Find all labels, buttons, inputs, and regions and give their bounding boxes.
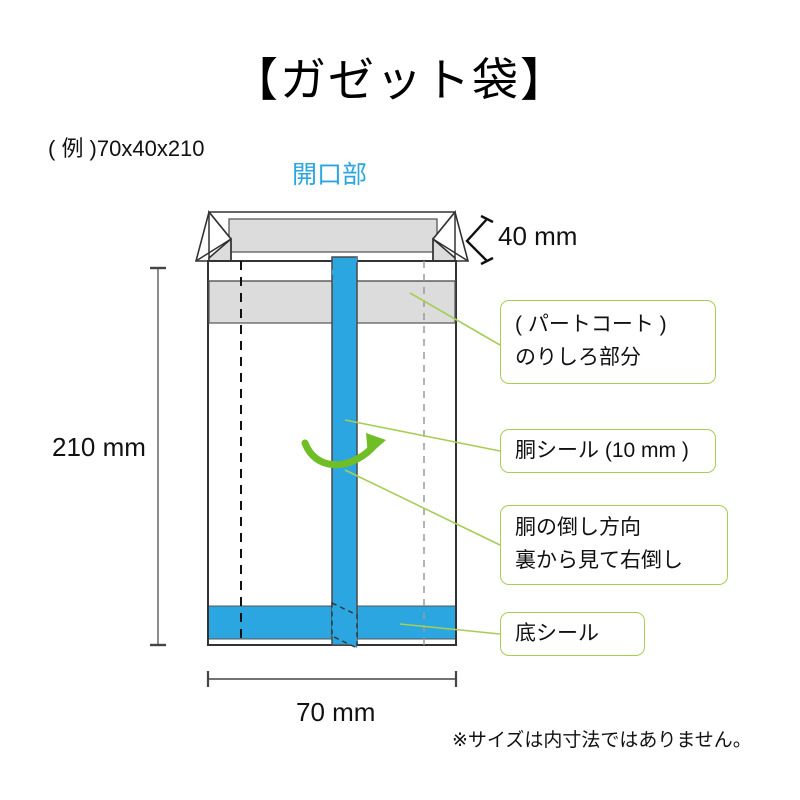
callout-part-coat-line1: ( パートコート ) [515, 309, 701, 342]
callout-body-seal: 胴シール (10 mm ) [500, 429, 716, 473]
page-title: 【ガゼット袋】 [0, 44, 800, 110]
diagram-canvas: 【ガゼット袋】 ( 例 )70x40x210 開口部 40 mm 210 mm … [0, 0, 800, 800]
height-dimension-label: 210 mm [52, 432, 146, 463]
top-flap-inner-panel [229, 219, 437, 252]
width-dimension-label: 70 mm [296, 697, 375, 728]
callout-part-coat-line2: のりしろ部分 [515, 342, 701, 375]
gusset-depth-bracket [467, 216, 493, 264]
callout-part-coat: ( パートコート ) のりしろ部分 [500, 300, 716, 384]
callout-bottom-seal: 底シール [500, 612, 645, 656]
opening-label: 開口部 [292, 155, 367, 191]
callout-body-seal-line1: 胴シール (10 mm ) [515, 435, 701, 468]
gusset-depth-label: 40 mm [498, 221, 577, 252]
callout-fold-direction-line2: 裏から見て右倒し [515, 545, 713, 578]
body-seal-strip [332, 257, 357, 645]
callout-fold-direction-line1: 胴の倒し方向 [515, 512, 713, 545]
top-gusset-group [196, 212, 468, 261]
gusset-bag-drawing [0, 0, 800, 800]
footnote-text: ※サイズは内寸法ではありません。 [452, 725, 752, 752]
callout-bottom-seal-line1: 底シール [515, 618, 630, 651]
example-size-label: ( 例 )70x40x210 [48, 131, 205, 163]
width-dimension [208, 671, 456, 687]
callout-fold-direction: 胴の倒し方向 裏から見て右倒し [500, 505, 728, 585]
bag-body-group [208, 257, 456, 648]
height-dimension [150, 268, 166, 645]
